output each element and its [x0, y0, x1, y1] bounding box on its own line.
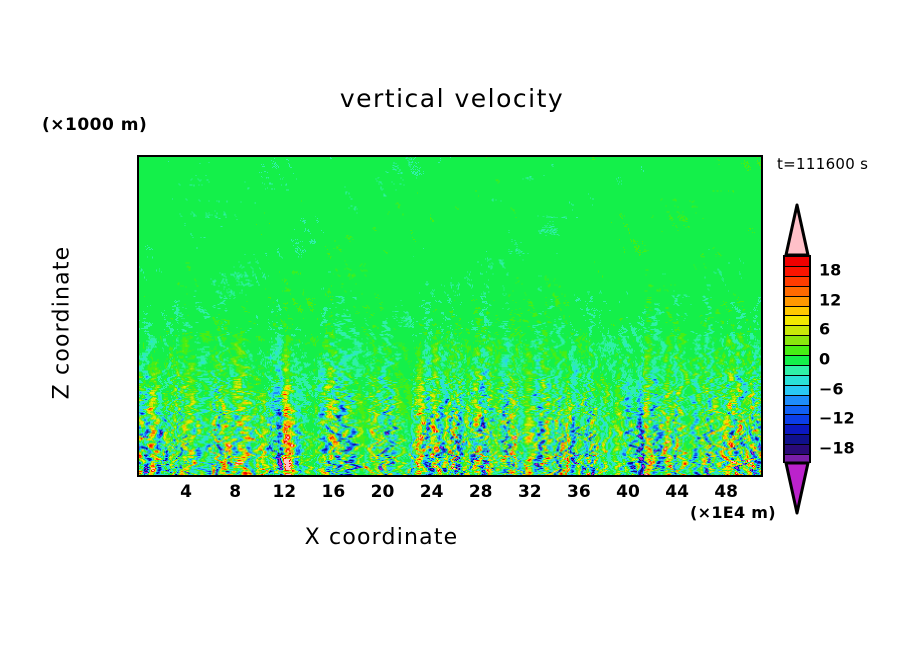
colorbar-band [785, 277, 809, 287]
colorbar-bands [783, 255, 811, 463]
colorbar-band [785, 336, 809, 346]
x-tick-label: 4 [180, 482, 192, 502]
colorbar-band [785, 297, 809, 307]
colorbar-band [785, 267, 809, 277]
colorbar-band [785, 307, 809, 317]
x-tick-label: 36 [567, 482, 591, 502]
colorbar-band [785, 376, 809, 386]
x-tick-label: 32 [518, 482, 542, 502]
colorbar-band [785, 346, 809, 356]
colorbar-tick-label: 18 [819, 260, 841, 279]
colorbar-tick-label: −6 [819, 379, 844, 398]
x-tick-label: 8 [229, 482, 241, 502]
chart-title: vertical velocity [0, 84, 904, 113]
timestamp-label: t=111600 s [777, 155, 868, 173]
colorbar-band [785, 415, 809, 425]
colorbar-band [785, 356, 809, 366]
x-tick-label: 20 [371, 482, 395, 502]
colorbar-band [785, 366, 809, 376]
colorbar-band [785, 396, 809, 406]
colorbar-tick-label: −12 [819, 409, 855, 428]
y-axis-unit-label: (×1000 m) [42, 115, 147, 135]
colorbar-under-arrow-icon [783, 461, 811, 515]
x-tick-label: 44 [665, 482, 689, 502]
colorbar-tick-label: −18 [819, 439, 855, 458]
colorbar[interactable] [783, 203, 811, 515]
colorbar-band [785, 445, 809, 455]
x-tick-label: 16 [322, 482, 346, 502]
heatmap-plot-area[interactable] [137, 155, 763, 477]
x-tick-label: 40 [616, 482, 640, 502]
colorbar-tick-label: 0 [819, 350, 830, 369]
colorbar-band [785, 386, 809, 396]
colorbar-band [785, 435, 809, 445]
x-tick-label: 28 [469, 482, 493, 502]
x-tick-label: 24 [420, 482, 444, 502]
colorbar-band [785, 257, 809, 267]
colorbar-band [785, 316, 809, 326]
x-axis-unit-label: (×1E4 m) [690, 503, 776, 522]
colorbar-band [785, 287, 809, 297]
x-tick-label: 12 [272, 482, 296, 502]
colorbar-tick-label: 12 [819, 290, 841, 309]
x-axis-title: X coordinate [0, 525, 763, 550]
colorbar-band [785, 326, 809, 336]
colorbar-tick-label: 6 [819, 320, 830, 339]
z-axis-title: Z coordinate [50, 213, 75, 433]
x-tick-label: 48 [714, 482, 738, 502]
colorbar-band [785, 425, 809, 435]
vertical-velocity-field [139, 157, 761, 475]
colorbar-over-arrow-icon [783, 203, 811, 257]
colorbar-band [785, 406, 809, 416]
